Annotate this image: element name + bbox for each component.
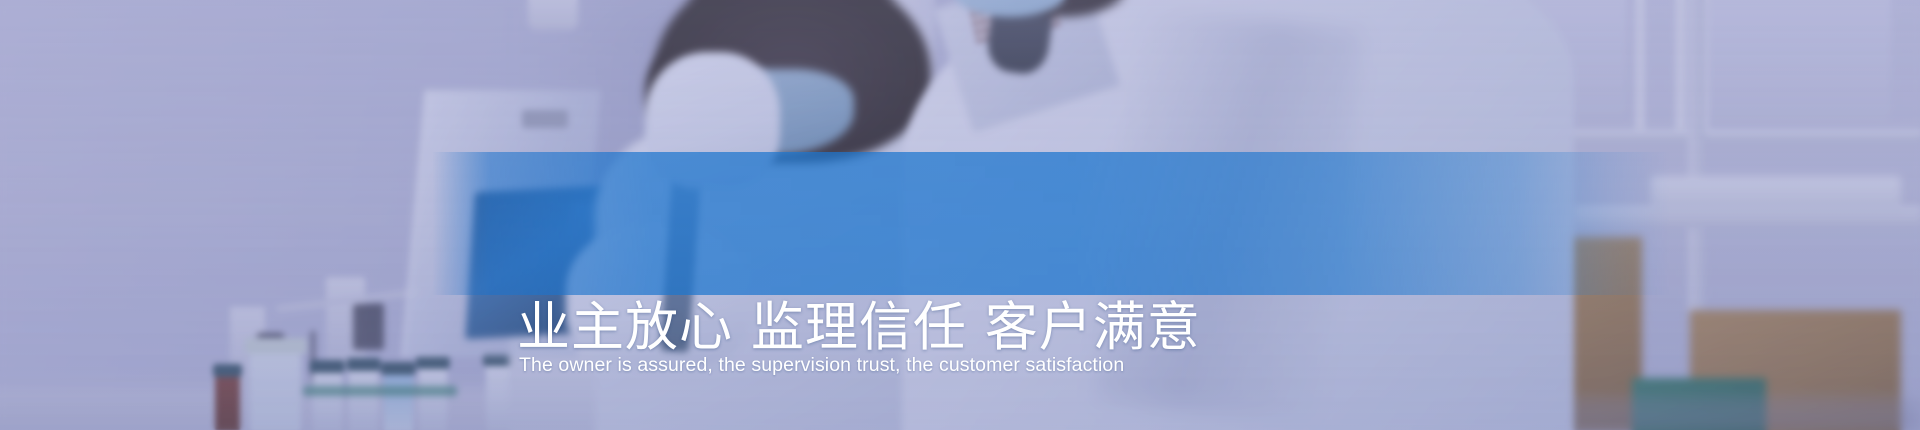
- slogan-headline: 业主放心 监理信任 客户满意: [517, 300, 1201, 356]
- slogan-block: 业主放心 监理信任 客户满意 The owner is assured, the…: [0, 152, 1920, 295]
- slogan-subheadline: The owner is assured, the supervision tr…: [519, 354, 1124, 377]
- hero-banner: 业主放心 监理信任 客户满意 The owner is assured, the…: [0, 0, 1920, 430]
